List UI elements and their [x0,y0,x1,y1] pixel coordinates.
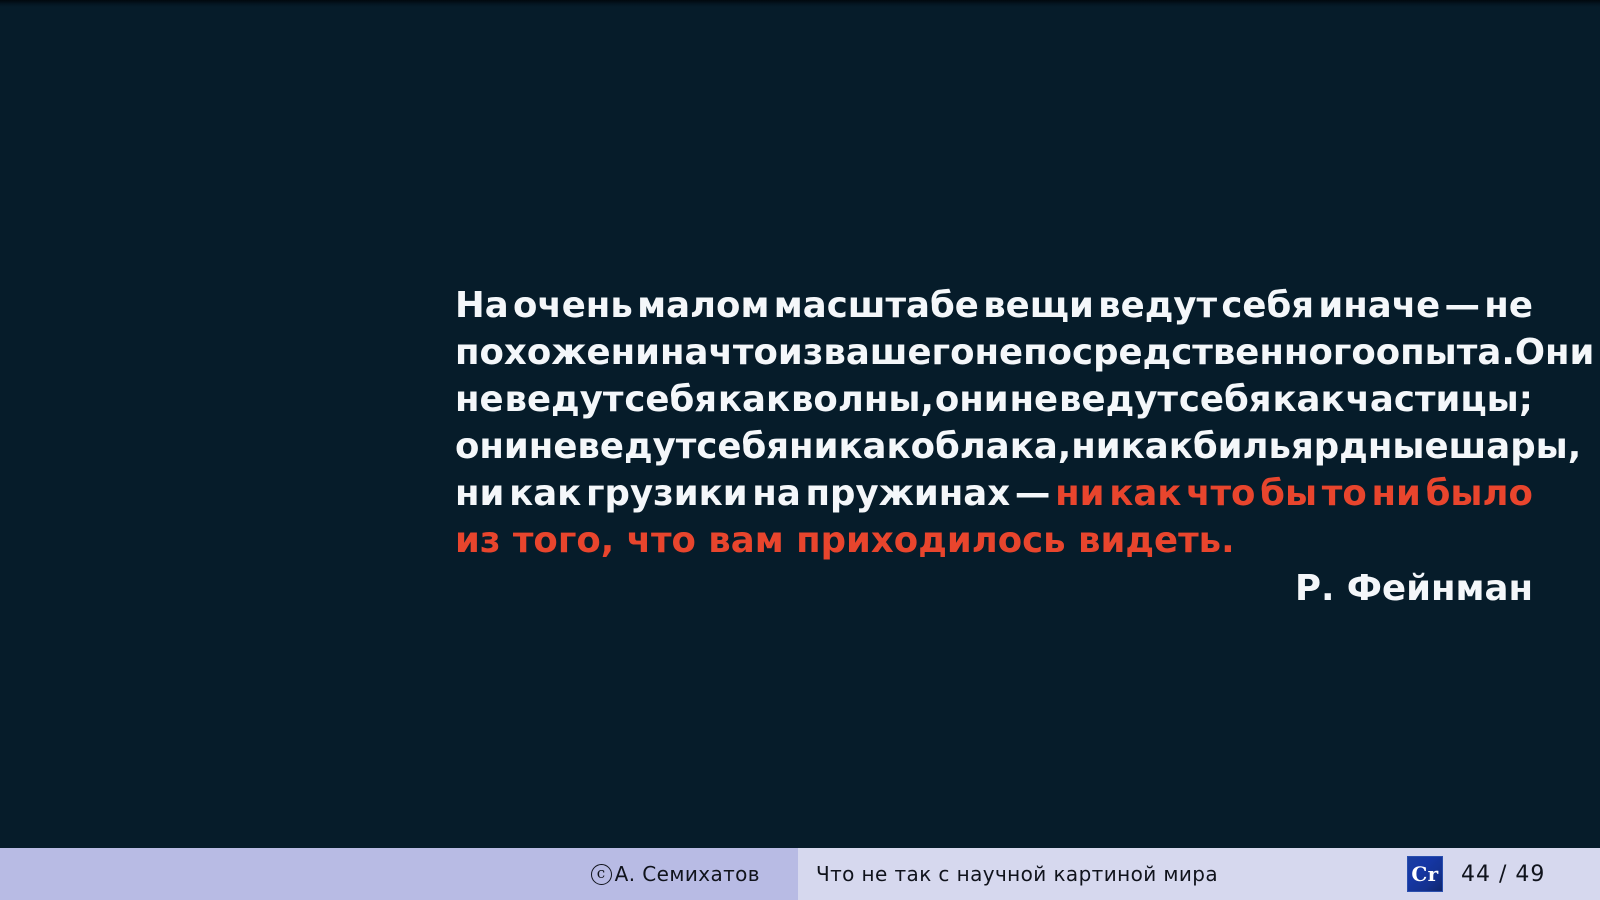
quote-word: себя [624,376,717,423]
quote-word: — [1445,282,1481,329]
quote-line-6: из того, что вам приходилось видеть. [455,517,1533,564]
quote-word: что [709,329,778,376]
quote-word: грузики [586,470,748,517]
status-right-segment: Cr 44 / 49 [1395,848,1600,900]
author-name: А. Семихатов [615,862,760,886]
quote-word-accent: бы [1260,470,1317,517]
quote-word: ведут [505,376,624,423]
quote-word: волны, [791,376,934,423]
quote-attribution: Р. Фейнман [455,565,1533,612]
quote-word: иначе [1318,282,1440,329]
quote-word: как [1121,423,1193,470]
quote-word: опыта. [1376,329,1515,376]
quote-word: не [1484,282,1533,329]
quote-word: малом [637,282,769,329]
quote-word-accent: ни [1055,470,1104,517]
quote-line-2: похоже ни на что из вашего непосредствен… [455,329,1533,376]
quote-word: из [778,329,824,376]
status-author-segment: А. Семихатов [0,848,798,900]
quote-word: себя [1179,376,1272,423]
quote-word: частицы; [1346,376,1533,423]
quote-word: похоже [455,329,611,376]
quote-word: бильярдные [1193,423,1449,470]
quote-line-5: ни как грузики на пружинах — ни как что … [455,470,1533,517]
page-counter: 44 / 49 [1461,862,1545,887]
quote-word: как [1272,376,1344,423]
quote-word: как [718,376,790,423]
quote-line-4: они не ведут себя ни как облака, ни как … [455,423,1533,470]
status-title-segment: Что не так с научной картиной мира [798,848,1395,900]
quote-word-accent: ни [1371,470,1420,517]
quote-word: они [455,423,529,470]
slide-canvas: На очень малом масштабе вещи ведут себя … [0,0,1600,900]
quote-word: себя [696,423,789,470]
quote-word: себя [1221,282,1314,329]
quote-word: не [1010,376,1059,423]
quote-word: на [660,329,708,376]
quote-line-3: не ведут себя как волны, они не ведут се… [455,376,1533,423]
quote-word: ни [1071,423,1120,470]
quote-word: ведут [577,423,696,470]
quote-word: шары, [1449,423,1582,470]
quote-word: ведут [1059,376,1178,423]
quote-word: как [509,470,581,517]
quote-word: очень [513,282,633,329]
quote-word: — [1015,470,1051,517]
presentation-title: Что не так с научной картиной мира [816,862,1218,886]
status-bar: А. Семихатов Что не так с научной картин… [0,848,1600,900]
quote-word: облака, [911,423,1072,470]
quote-word: на [752,470,800,517]
quote-word: масштабе [774,282,979,329]
cr-logo-icon[interactable]: Cr [1407,856,1443,892]
quote-word: как [838,423,910,470]
quote-word: пружинах [806,470,1011,517]
quote-word-accent: что [1186,470,1255,517]
quote-word-accent: было [1426,470,1533,517]
quote-word: Они [1515,329,1595,376]
quote-block: На очень малом масштабе вещи ведут себя … [455,282,1533,564]
quote-word: они [935,376,1009,423]
quote-word: ни [455,470,504,517]
slide-top-edge [0,0,1600,7]
quote-word: ни [611,329,660,376]
quote-line-1: На очень малом масштабе вещи ведут себя … [455,282,1533,329]
quote-word: вещи [983,282,1094,329]
quote-word: На [455,282,509,329]
copyright-icon [591,864,612,885]
quote-word: вашего [823,329,974,376]
quote-word-accent: то [1322,470,1367,517]
quote-word: непосредственного [975,329,1376,376]
quote-word-accent: как [1109,470,1181,517]
quote-word: не [529,423,578,470]
quote-word: не [455,376,504,423]
quote-word: ведут [1098,282,1217,329]
quote-word: ни [789,423,838,470]
